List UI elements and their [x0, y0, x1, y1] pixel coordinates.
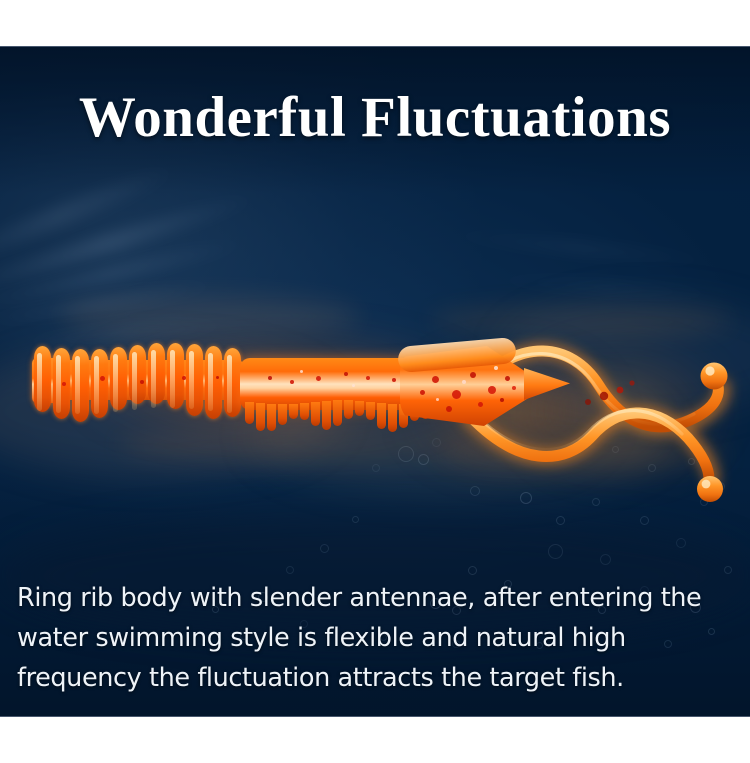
- body-leg: [377, 403, 386, 429]
- body-leg: [333, 400, 342, 426]
- lure-fleck: [452, 390, 461, 399]
- body-leg: [256, 403, 265, 431]
- antenna-tip-ball: [701, 363, 728, 390]
- description-line: Ring rib body with slender antennae, aft…: [17, 578, 737, 618]
- lure-fleck: [100, 376, 105, 381]
- body-leg: [278, 404, 287, 425]
- body-leg: [267, 404, 276, 432]
- tail-rib: [148, 343, 165, 404]
- lure-fleck: [494, 366, 498, 370]
- product-banner: Wonderful Fluctuations Ring rib body wit…: [0, 0, 750, 763]
- body-leg: [311, 402, 320, 426]
- tail-rib: [34, 346, 51, 412]
- antenna-tip-ball: [697, 476, 723, 502]
- body-leg: [245, 402, 254, 424]
- lure-fleck: [446, 406, 452, 412]
- lure-fleck: [140, 380, 144, 384]
- lure-fleck: [420, 390, 425, 395]
- body-leg: [355, 401, 364, 416]
- description-text: Ring rib body with slender antennae, aft…: [17, 578, 737, 698]
- lure-fleck: [436, 398, 439, 401]
- description-line: water swimming style is flexible and nat…: [17, 618, 737, 658]
- antenna-lower-stroke: [470, 413, 709, 479]
- lure-fleck: [216, 376, 219, 379]
- lure-fleck: [182, 376, 186, 380]
- lure-fleck: [500, 398, 504, 402]
- tail-rib: [72, 349, 89, 422]
- lure-fleck: [316, 376, 321, 381]
- lure-fleck: [392, 378, 396, 382]
- lure-fleck: [512, 386, 516, 390]
- body-leg: [366, 402, 375, 421]
- lure-fleck: [344, 372, 348, 376]
- lure-fleck: [62, 382, 66, 386]
- lure-ring-rib-tail: [34, 342, 249, 416]
- tail-rib: [205, 346, 222, 419]
- lure-fleck: [366, 376, 370, 380]
- lure-fleck: [300, 370, 303, 373]
- lure-fleck: [268, 376, 272, 380]
- lure-fleck: [432, 376, 439, 383]
- body-leg: [300, 403, 309, 420]
- tail-rib: [110, 347, 127, 410]
- tail-rib: [91, 349, 108, 418]
- description-line: frequency the fluctuation attracts the t…: [17, 658, 737, 698]
- body-leg: [388, 404, 397, 433]
- page-title: Wonderful Fluctuations: [0, 88, 750, 148]
- body-leg: [322, 401, 331, 430]
- tail-rib: [129, 345, 146, 404]
- lure-fleck: [290, 380, 294, 384]
- lure-fleck: [488, 386, 496, 394]
- lure-fleck: [352, 384, 355, 387]
- body-leg: [289, 404, 298, 419]
- body-leg: [344, 400, 353, 419]
- tail-rib: [186, 344, 203, 416]
- lure-fleck: [470, 372, 476, 378]
- tail-rib: [224, 348, 241, 417]
- lure-fleck: [478, 402, 483, 407]
- lure-fleck: [462, 380, 466, 384]
- lure-fleck: [505, 376, 510, 381]
